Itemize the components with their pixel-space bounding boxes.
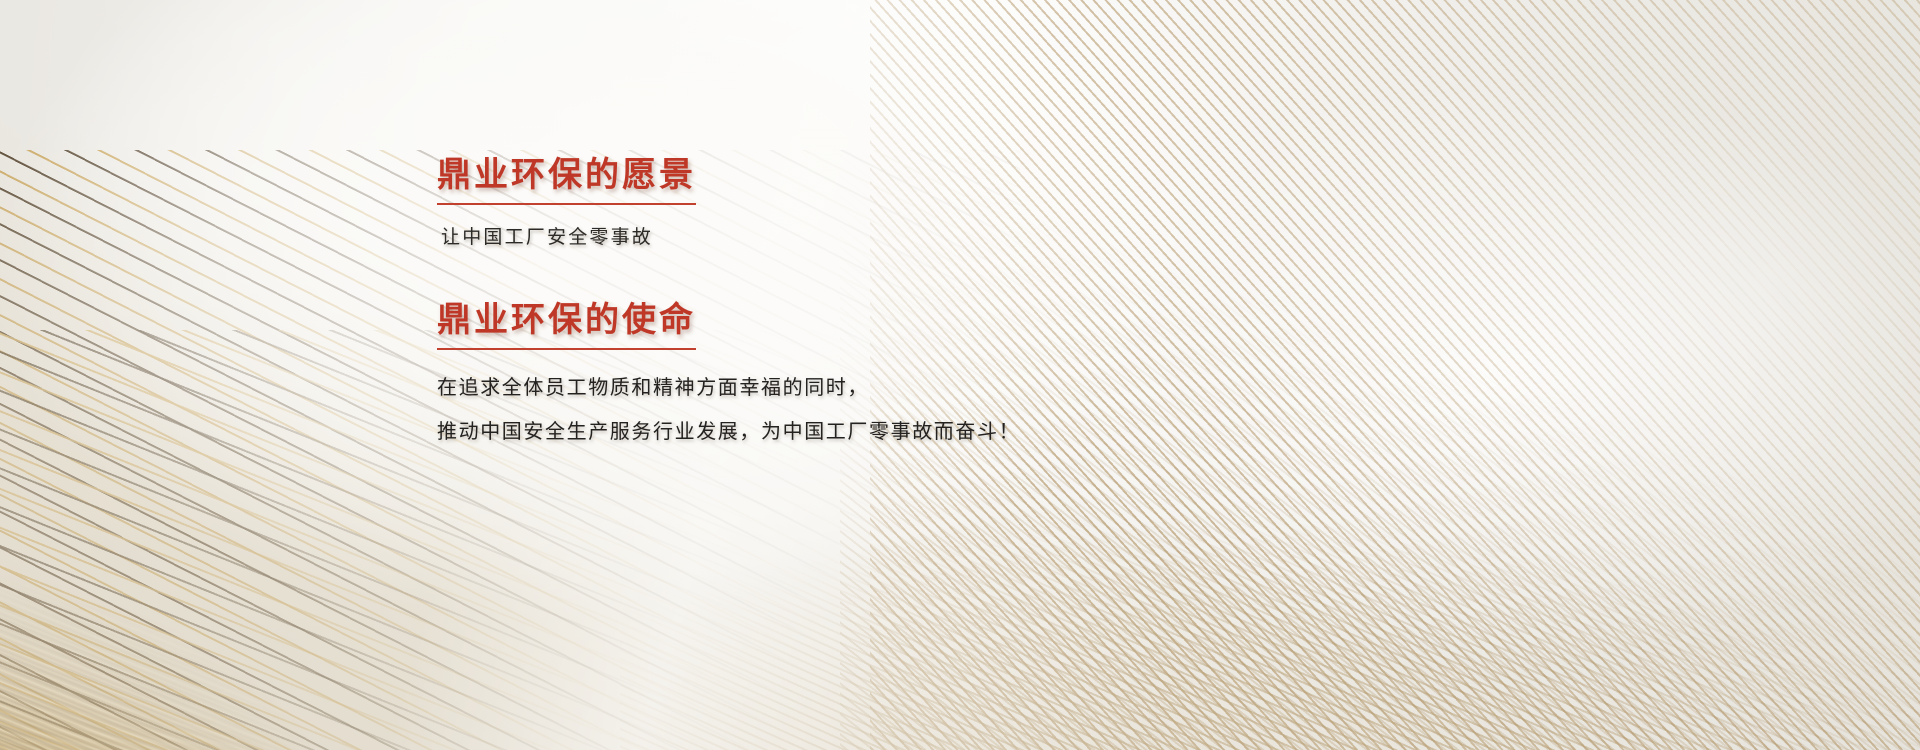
vision-block: 鼎业环保的愿景 让中国工厂安全零事故 bbox=[437, 155, 696, 249]
mission-body: 在追求全体员工物质和精神方面幸福的同时， 推动中国安全生产服务行业发展，为中国工… bbox=[437, 378, 1020, 442]
vision-subtitle: 让中国工厂安全零事故 bbox=[441, 222, 696, 249]
vision-heading: 鼎业环保的愿景 bbox=[437, 155, 696, 205]
mission-block: 鼎业环保的使命 在追求全体员工物质和精神方面幸福的同时， 推动中国安全生产服务行… bbox=[437, 300, 1020, 442]
vision-mission-banner: 鼎业环保的愿景 让中国工厂安全零事故 鼎业环保的使命 在追求全体员工物质和精神方… bbox=[0, 0, 1920, 750]
mission-heading: 鼎业环保的使命 bbox=[437, 300, 696, 350]
mission-body-line: 推动中国安全生产服务行业发展，为中国工厂零事故而奋斗！ bbox=[437, 422, 1020, 442]
banner-content: 鼎业环保的愿景 让中国工厂安全零事故 鼎业环保的使命 在追求全体员工物质和精神方… bbox=[437, 0, 1437, 750]
mission-body-line: 在追求全体员工物质和精神方面幸福的同时， bbox=[437, 378, 1020, 398]
